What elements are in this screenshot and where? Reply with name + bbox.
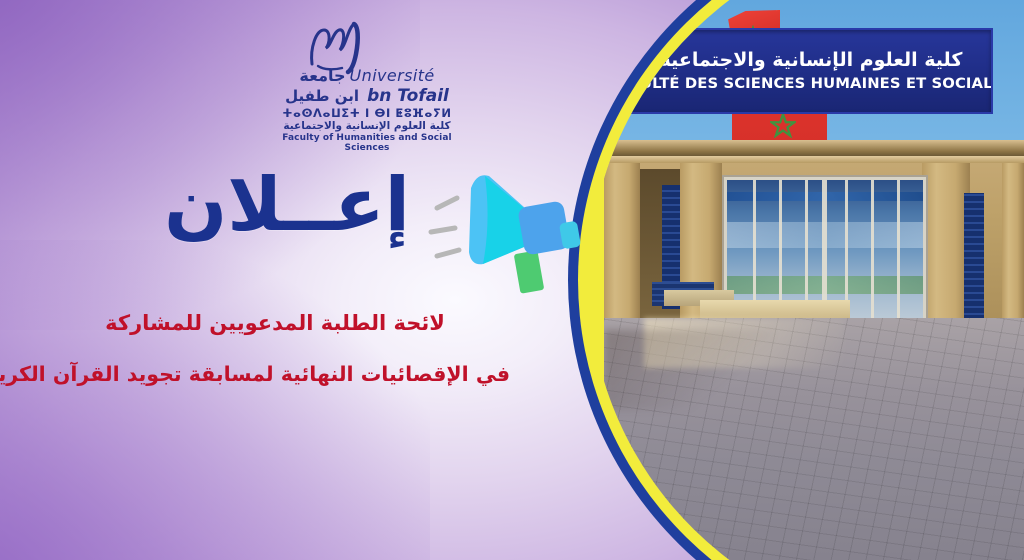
column — [1002, 163, 1024, 328]
logo-tifinagh-text: ⵜⴰⵙⴷⴰⵡⵉⵜ ⵏ ⴱⵏ ⵟⵓⴼⴰⵢⵍ — [272, 106, 462, 120]
background-tint-bottom-left — [0, 240, 430, 560]
building-cornice — [604, 140, 1024, 156]
ground-shadow — [604, 330, 774, 410]
sign-french-text: FACULTÉ DES SCIENCES HUMAINES ET SOCIALE… — [629, 76, 993, 92]
zellige-tile-panel — [964, 193, 984, 327]
entrance-step — [700, 300, 850, 318]
sign-arabic-text: كلية العلوم الإنسانية والاجتماعية — [660, 50, 963, 72]
university-logo: جامعة Université ابن طفيل bn Tofail ⵜⴰⵙⴷ… — [272, 14, 462, 144]
logo-faculty-arabic: كلية العلوم الإنسانية والاجتماعية — [272, 120, 462, 132]
megaphone-handle — [514, 250, 545, 294]
faculty-sign: كلية العلوم الإنسانية والاجتماعية FACULT… — [629, 28, 993, 114]
logo-french-university: Université — [350, 66, 435, 85]
announcement-line-2: في الإقصائيات النهائية لمسابقة تجويد الق… — [40, 363, 510, 386]
column — [922, 163, 970, 328]
building-cornice-lower — [604, 156, 1024, 163]
announcement-line-1: لائحة الطلبة المدعويين للمشاركة — [40, 312, 510, 335]
logo-french-name: bn Tofail — [367, 86, 449, 106]
door-mullion — [897, 180, 900, 328]
page-title: إعــلان — [170, 168, 410, 242]
logo-faculty-english: Faculty of Humanities and Social Science… — [272, 133, 462, 153]
wall-pentagram-icon — [770, 112, 796, 138]
megaphone-icon — [425, 160, 585, 295]
logo-name-row: ابن طفيل bn Tofail — [272, 86, 462, 106]
door-mullion — [871, 180, 874, 328]
announcement-poster: كلية العلوم الإنسانية والاجتماعية FACULT… — [0, 0, 1024, 560]
photo-clip-mask: كلية العلوم الإنسانية والاجتماعية FACULT… — [589, 0, 1024, 560]
logo-university-row: جامعة Université — [272, 66, 462, 85]
faculty-building-photo: كلية العلوم الإنسانية والاجتماعية FACULT… — [604, 0, 1024, 560]
logo-arabic-name: ابن طفيل — [285, 87, 359, 105]
megaphone-sound-lines — [431, 198, 459, 256]
logo-arabic-university: جامعة — [299, 66, 345, 85]
column — [604, 163, 640, 328]
announcement-body: لائحة الطلبة المدعويين للمشاركة في الإقص… — [40, 312, 510, 386]
campus-photo-panel: كلية العلوم الإنسانية والاجتماعية FACULT… — [604, 0, 1024, 560]
